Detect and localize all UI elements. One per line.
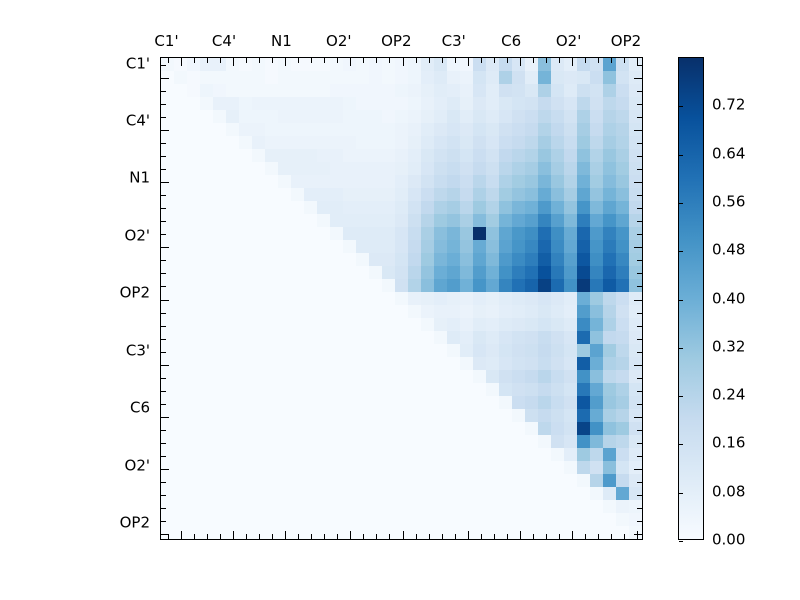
heatmap-cell — [512, 214, 525, 227]
heatmap-cell — [538, 474, 551, 487]
colorbar-tick-label: 0.00 — [712, 533, 745, 548]
heatmap-cell — [239, 344, 252, 357]
heatmap-cell — [252, 461, 265, 474]
heatmap-cell — [213, 370, 226, 383]
heatmap-cell — [408, 513, 421, 526]
heatmap-cell — [265, 253, 278, 266]
heatmap-cell — [486, 292, 499, 305]
heatmap-cell — [603, 253, 616, 266]
heatmap-cell — [473, 344, 486, 357]
heatmap-cell — [187, 162, 200, 175]
heatmap-cell — [577, 435, 590, 448]
heatmap-cell — [460, 305, 473, 318]
heatmap-cell — [577, 97, 590, 110]
heatmap-cell — [382, 84, 395, 97]
axis-tick — [637, 91, 642, 92]
heatmap-cell — [369, 123, 382, 136]
heatmap-cell — [226, 318, 239, 331]
heatmap-cell — [512, 448, 525, 461]
heatmap-cell — [382, 461, 395, 474]
y-tick-label: O2' — [96, 228, 150, 243]
heatmap-cell — [278, 305, 291, 318]
heatmap-cell — [564, 435, 577, 448]
heatmap-cell — [421, 435, 434, 448]
heatmap-cell — [252, 435, 265, 448]
heatmap-cell — [434, 396, 447, 409]
heatmap-cell — [265, 71, 278, 84]
heatmap-cell — [460, 344, 473, 357]
axis-tick — [624, 534, 625, 539]
heatmap-cell — [369, 97, 382, 110]
heatmap-cell — [577, 448, 590, 461]
heatmap-cell — [161, 448, 174, 461]
heatmap-cell — [161, 370, 174, 383]
heatmap-cell — [538, 344, 551, 357]
heatmap-cell — [252, 136, 265, 149]
heatmap-cell — [174, 487, 187, 500]
heatmap-cell — [226, 240, 239, 253]
axis-tick — [533, 58, 534, 63]
heatmap-cell — [408, 266, 421, 279]
heatmap-cell — [265, 448, 278, 461]
heatmap-cell — [343, 461, 356, 474]
heatmap-cell — [369, 71, 382, 84]
heatmap-cell — [317, 409, 330, 422]
colorbar[interactable] — [678, 57, 704, 540]
axis-tick — [416, 534, 417, 539]
heatmap-cell — [538, 396, 551, 409]
heatmap-cell — [343, 357, 356, 370]
heatmap-cell — [369, 318, 382, 331]
heatmap-cell — [434, 253, 447, 266]
heatmap-cell — [161, 435, 174, 448]
heatmap-cell — [395, 123, 408, 136]
heatmap-cell — [421, 110, 434, 123]
heatmap-cell — [291, 123, 304, 136]
heatmap-cell — [317, 344, 330, 357]
heatmap-cell — [330, 149, 343, 162]
heatmap-cell — [200, 500, 213, 513]
heatmap-cell — [278, 175, 291, 188]
heatmap-cell — [304, 123, 317, 136]
heatmap-cell — [200, 136, 213, 149]
heatmap-cell — [369, 175, 382, 188]
heatmap-cell — [278, 331, 291, 344]
heatmap-cell — [460, 513, 473, 526]
heatmap-cell — [395, 110, 408, 123]
heatmap-cell — [551, 201, 564, 214]
heatmap-cell — [330, 409, 343, 422]
heatmap-cell — [603, 97, 616, 110]
heatmap-cell — [551, 344, 564, 357]
heatmap-cell — [421, 292, 434, 305]
heatmap-cell — [330, 487, 343, 500]
heatmap-cell — [356, 383, 369, 396]
axis-tick — [233, 58, 234, 66]
heatmap-cell — [395, 513, 408, 526]
heatmap-cell — [187, 513, 200, 526]
heatmap-cell — [213, 461, 226, 474]
heatmap-cell — [226, 110, 239, 123]
heatmap-cell — [603, 487, 616, 500]
heatmap-cell — [278, 162, 291, 175]
heatmap-cell — [473, 474, 486, 487]
heatmap-cell — [330, 123, 343, 136]
heatmap-cell — [239, 461, 252, 474]
heatmap-cell — [603, 162, 616, 175]
heatmap-cell — [174, 253, 187, 266]
heatmap-cell — [252, 253, 265, 266]
heatmap-cell — [629, 318, 642, 331]
heatmap-cell — [577, 175, 590, 188]
heatmap-cell — [213, 123, 226, 136]
heatmap-cell — [629, 331, 642, 344]
heatmap-cell — [512, 383, 525, 396]
heatmap-cell — [278, 97, 291, 110]
heatmap-cell — [421, 513, 434, 526]
heatmap-cell — [239, 240, 252, 253]
heatmap-cell — [213, 227, 226, 240]
heatmap-cell — [473, 448, 486, 461]
heatmap-cell — [395, 461, 408, 474]
heatmap-cell — [291, 487, 304, 500]
heatmap-cell — [291, 474, 304, 487]
axis-tick — [161, 508, 166, 509]
heatmap-cell — [304, 435, 317, 448]
heatmap-cell — [213, 383, 226, 396]
heatmap-cell — [291, 461, 304, 474]
heatmap-cell — [278, 123, 291, 136]
heatmap-cell — [252, 97, 265, 110]
heatmap-cell — [382, 162, 395, 175]
heatmap-cell — [447, 435, 460, 448]
heatmap-cell — [265, 383, 278, 396]
heatmap-cell — [239, 97, 252, 110]
heatmap-cell — [265, 474, 278, 487]
heatmap-cell — [278, 253, 291, 266]
heatmap-cell — [486, 461, 499, 474]
heatmap-cell — [486, 149, 499, 162]
heatmap-cell — [616, 422, 629, 435]
colorbar-tick-label: 0.16 — [712, 436, 745, 451]
heatmap-cell — [603, 435, 616, 448]
heatmap-cell — [629, 383, 642, 396]
heatmap-cell — [265, 331, 278, 344]
heatmap-cell — [317, 500, 330, 513]
heatmap-cell — [460, 175, 473, 188]
heatmap-cell — [590, 188, 603, 201]
heatmap-cell — [317, 370, 330, 383]
axis-tick — [611, 58, 612, 63]
heatmap-cell — [395, 435, 408, 448]
heatmap-cell — [551, 227, 564, 240]
heatmap-cell — [421, 201, 434, 214]
heatmap-cell — [356, 461, 369, 474]
heatmap-cell — [525, 370, 538, 383]
heatmap-cell — [304, 188, 317, 201]
heatmap-cell — [213, 435, 226, 448]
heatmap-cell — [265, 292, 278, 305]
heatmap-cell — [473, 331, 486, 344]
heatmap-cell — [252, 292, 265, 305]
heatmap-cell — [356, 201, 369, 214]
heatmap-cell — [265, 396, 278, 409]
heatmap-cell — [629, 409, 642, 422]
heatmap-cell — [590, 162, 603, 175]
heatmap-cell — [434, 318, 447, 331]
heatmap-cell — [421, 149, 434, 162]
heatmap-cell — [382, 175, 395, 188]
heatmap-cell — [369, 396, 382, 409]
heatmap-cell — [577, 214, 590, 227]
heatmap-cell — [564, 513, 577, 526]
heatmap-cell — [226, 162, 239, 175]
heatmap-cell — [499, 201, 512, 214]
heatmap-cell — [239, 149, 252, 162]
heatmap-cell — [434, 409, 447, 422]
heatmap-cell — [226, 396, 239, 409]
heatmap-cell — [226, 474, 239, 487]
heatmap-cell — [356, 97, 369, 110]
heatmap-cell — [447, 487, 460, 500]
heatmap-cell — [304, 149, 317, 162]
heatmap-cell — [603, 123, 616, 136]
heatmap-cell — [330, 474, 343, 487]
heatmap-cell — [525, 123, 538, 136]
heatmap-cell — [200, 175, 213, 188]
heatmap-cell — [408, 175, 421, 188]
heatmap-cell — [551, 435, 564, 448]
heatmap-cell — [408, 123, 421, 136]
heatmap-cell — [616, 331, 629, 344]
heatmap-cell — [174, 279, 187, 292]
heatmap-cell — [486, 214, 499, 227]
heatmap-cell — [291, 162, 304, 175]
heatmap-cell — [330, 110, 343, 123]
heatmap-cell — [265, 84, 278, 97]
heatmap-cell — [356, 71, 369, 84]
heatmap-cell — [473, 435, 486, 448]
heatmap-cell — [382, 357, 395, 370]
heatmap-cell — [330, 201, 343, 214]
heatmap-cell — [174, 344, 187, 357]
heatmap-cell — [239, 292, 252, 305]
heatmap-cell — [590, 149, 603, 162]
heatmap-cell — [421, 305, 434, 318]
heatmap-cell — [499, 370, 512, 383]
axis-tick — [220, 534, 221, 539]
heatmap-cell — [265, 227, 278, 240]
heatmap-cell — [395, 240, 408, 253]
heatmap-cell — [577, 474, 590, 487]
heatmap-cell — [213, 188, 226, 201]
heatmap-cell — [486, 136, 499, 149]
heatmap-cell — [577, 305, 590, 318]
heatmap-cell — [265, 435, 278, 448]
heatmap-cell — [434, 513, 447, 526]
heatmap-cell — [512, 370, 525, 383]
heatmap-cell — [239, 110, 252, 123]
heatmap-cell — [486, 474, 499, 487]
heatmap-cell — [174, 71, 187, 84]
heatmap-cell — [369, 188, 382, 201]
heatmap-cell — [512, 500, 525, 513]
colorbar-tick — [679, 251, 683, 252]
heatmap-cell — [460, 188, 473, 201]
heatmap-cell — [616, 71, 629, 84]
heatmap-cell — [564, 500, 577, 513]
colorbar-tick-label: 0.24 — [712, 388, 745, 403]
heatmap-cell — [213, 409, 226, 422]
heatmap-cell — [603, 279, 616, 292]
heatmap-cell — [291, 344, 304, 357]
heatmap-cell — [486, 331, 499, 344]
heatmap-cell — [291, 227, 304, 240]
heatmap-cell — [551, 500, 564, 513]
heatmap-cell — [382, 149, 395, 162]
heatmap-cell — [252, 240, 265, 253]
heatmap-cell — [343, 136, 356, 149]
y-tick-label: O2' — [96, 458, 150, 473]
heatmap-cell — [538, 435, 551, 448]
heatmap-cell — [512, 84, 525, 97]
heatmap-cell — [616, 201, 629, 214]
heatmap-cell — [486, 383, 499, 396]
heatmap-cell — [252, 500, 265, 513]
heatmap-cell — [187, 305, 200, 318]
heatmap-cell — [408, 474, 421, 487]
heatmap-cell — [317, 188, 330, 201]
axis-tick — [634, 300, 642, 301]
heatmap-cell — [226, 331, 239, 344]
heatmap-cell — [564, 71, 577, 84]
axis-tick — [161, 143, 166, 144]
heatmap-cell — [460, 162, 473, 175]
heatmap-cell — [460, 422, 473, 435]
heatmap-cell — [577, 201, 590, 214]
heatmap-cell — [382, 474, 395, 487]
heatmap-cell — [265, 110, 278, 123]
heatmap-cell — [304, 305, 317, 318]
heatmap-cell — [161, 474, 174, 487]
heatmap-cell — [421, 188, 434, 201]
heatmap-cell — [200, 344, 213, 357]
axis-tick — [161, 260, 166, 261]
heatmap-cell — [447, 110, 460, 123]
heatmap-cell — [395, 305, 408, 318]
heatmap-cell — [213, 266, 226, 279]
heatmap-cell — [200, 110, 213, 123]
heatmap-cell — [317, 396, 330, 409]
heatmap-cell — [174, 110, 187, 123]
heatmap-cell — [512, 71, 525, 84]
colorbar-tick — [679, 203, 683, 204]
heatmap-cell — [356, 175, 369, 188]
heatmap-cell — [343, 188, 356, 201]
heatmap-cell — [616, 240, 629, 253]
axis-tick — [559, 58, 560, 63]
heatmap-cell — [408, 188, 421, 201]
heatmap-cell — [226, 149, 239, 162]
heatmap-cell — [343, 500, 356, 513]
heatmap-cell — [187, 240, 200, 253]
axis-tick — [161, 208, 166, 209]
heatmap-cell — [382, 344, 395, 357]
heatmap-cell — [356, 409, 369, 422]
heatmap-cell — [421, 422, 434, 435]
heatmap-cell — [473, 214, 486, 227]
heatmap-axes[interactable] — [160, 57, 643, 540]
heatmap-cell — [473, 461, 486, 474]
heatmap-cell — [512, 292, 525, 305]
heatmap-cell — [603, 513, 616, 526]
heatmap-cell — [421, 318, 434, 331]
heatmap-cell — [447, 526, 460, 539]
heatmap-cell — [213, 487, 226, 500]
heatmap-cell — [525, 266, 538, 279]
heatmap-cell — [525, 448, 538, 461]
heatmap-cell — [525, 331, 538, 344]
heatmap-cell — [486, 71, 499, 84]
heatmap-cell — [616, 357, 629, 370]
heatmap-cell — [551, 383, 564, 396]
heatmap-cell — [512, 201, 525, 214]
axis-tick — [161, 365, 169, 366]
heatmap-cell — [408, 396, 421, 409]
heatmap-cell — [265, 461, 278, 474]
heatmap-cell — [590, 266, 603, 279]
heatmap-cell — [564, 110, 577, 123]
heatmap-cell — [278, 149, 291, 162]
heatmap-cell — [369, 513, 382, 526]
heatmap-cell — [551, 240, 564, 253]
heatmap-cell — [538, 513, 551, 526]
heatmap-cell — [629, 292, 642, 305]
heatmap-cell — [174, 175, 187, 188]
heatmap-cell — [564, 279, 577, 292]
heatmap-cell — [226, 370, 239, 383]
axis-tick — [337, 534, 338, 539]
axis-tick — [350, 58, 351, 66]
heatmap-cell — [421, 266, 434, 279]
heatmap-cell — [486, 84, 499, 97]
axis-tick — [337, 58, 338, 63]
heatmap-cell — [226, 461, 239, 474]
heatmap-cell — [486, 344, 499, 357]
heatmap-cell — [304, 292, 317, 305]
heatmap-cell — [395, 97, 408, 110]
heatmap-cell — [434, 526, 447, 539]
heatmap-cell — [239, 123, 252, 136]
heatmap-cell — [200, 84, 213, 97]
heatmap-cell — [460, 110, 473, 123]
heatmap-cell — [512, 409, 525, 422]
heatmap-cell — [317, 305, 330, 318]
y-tick-label: C3' — [96, 343, 150, 358]
heatmap-cell — [278, 214, 291, 227]
heatmap-cell — [408, 305, 421, 318]
heatmap-cell — [343, 84, 356, 97]
heatmap-cell — [317, 162, 330, 175]
heatmap-cell — [395, 266, 408, 279]
heatmap-cell — [369, 136, 382, 149]
heatmap-cell — [291, 305, 304, 318]
heatmap-cell — [473, 123, 486, 136]
heatmap-cell — [304, 513, 317, 526]
axis-tick — [637, 443, 642, 444]
heatmap-cell — [330, 448, 343, 461]
heatmap-cell — [551, 110, 564, 123]
